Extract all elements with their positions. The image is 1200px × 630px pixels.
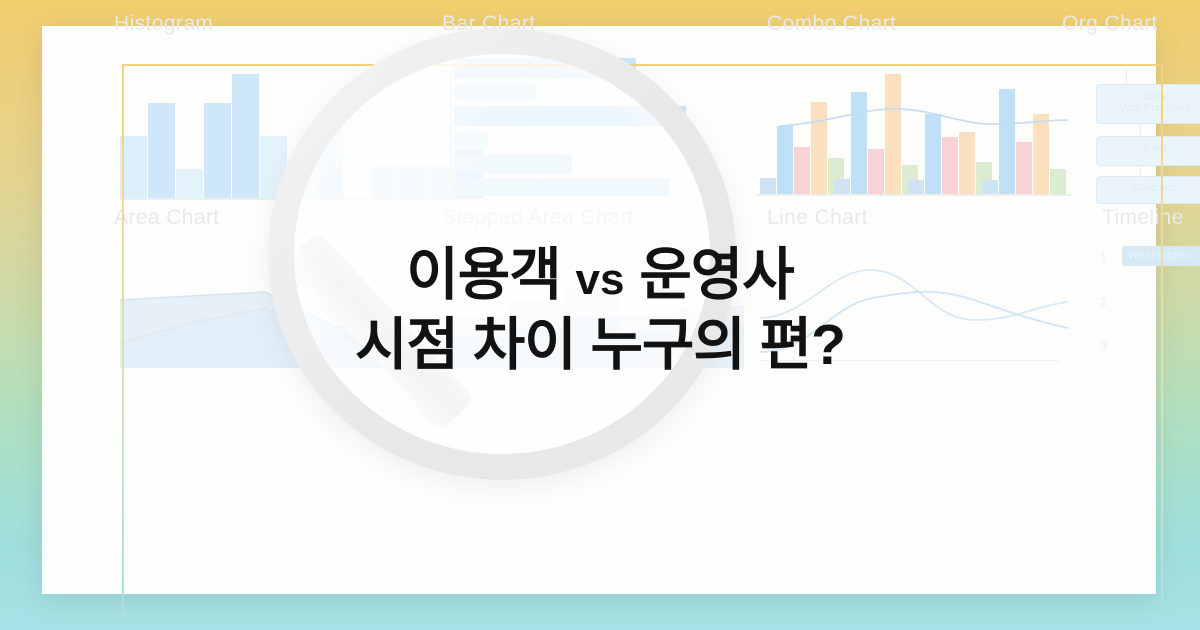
widget-label-histogram: Histogram xyxy=(114,12,213,36)
histogram-bar xyxy=(372,166,399,198)
histogram-bar xyxy=(288,160,315,198)
combo-trend-line xyxy=(760,64,1080,194)
chart-bar xyxy=(454,58,784,193)
chart-org: Jerry Vice President Kent Cleaners xyxy=(1088,68,1200,208)
poster-canvas: Histogram Bar Chart Combo Chart Org Char… xyxy=(0,0,1200,630)
org-node: Kent xyxy=(1096,136,1200,166)
widget-label-timeline: Timeline xyxy=(1102,206,1184,230)
widget-label-bar-chart: Bar Chart xyxy=(442,12,535,36)
bar-chart-bar xyxy=(454,130,488,150)
title-line1-subject: 이용객 xyxy=(406,243,560,307)
histogram-bar xyxy=(176,169,203,198)
org-connector xyxy=(1126,68,1127,84)
chart-histogram xyxy=(120,64,380,198)
org-node: Cleaners xyxy=(1096,176,1200,204)
histogram-bar xyxy=(400,166,427,198)
org-connector xyxy=(1140,124,1141,136)
bar-chart-bar xyxy=(454,82,537,102)
bar-chart-bar xyxy=(454,58,636,78)
title-line1-object: 운영사 xyxy=(639,243,793,307)
histogram-bar xyxy=(260,136,287,198)
histogram-bar xyxy=(316,120,343,198)
widget-label-stepped-area-chart: Stepped Area Chart xyxy=(442,206,634,230)
histogram-bar xyxy=(232,74,259,198)
histogram-bar xyxy=(204,103,231,198)
title-line2: 시점 차이 누구의 편? xyxy=(0,316,1200,374)
org-connector xyxy=(1140,166,1141,176)
histogram-bar xyxy=(148,103,175,198)
bar-chart-bar xyxy=(454,178,669,196)
widget-label-line-chart: Line Chart xyxy=(767,206,868,230)
bar-chart-bar xyxy=(454,154,572,174)
histogram-bar xyxy=(120,136,147,198)
widget-label-area-chart: Area Chart xyxy=(114,206,220,230)
title-vs: vs xyxy=(576,255,625,304)
bar-chart-bar xyxy=(454,106,686,126)
widget-label-combo-chart: Combo Chart xyxy=(767,12,896,36)
org-node-name: Kent xyxy=(1144,142,1167,154)
chart-combo xyxy=(760,64,1060,194)
bar-chart-axis xyxy=(450,58,452,198)
widget-label-org-chart: Org Chart xyxy=(1062,12,1158,36)
org-node: Jerry Vice President xyxy=(1096,84,1200,124)
org-node-name: Jerry xyxy=(1143,90,1167,102)
poster-title: 이용객 vs 운영사 시점 차이 누구의 편? xyxy=(0,246,1200,374)
org-node-role: Vice President xyxy=(1120,102,1191,114)
histogram-axis xyxy=(120,198,490,200)
combo-axis xyxy=(756,194,1071,196)
org-node-name: Cleaners xyxy=(1133,182,1177,194)
